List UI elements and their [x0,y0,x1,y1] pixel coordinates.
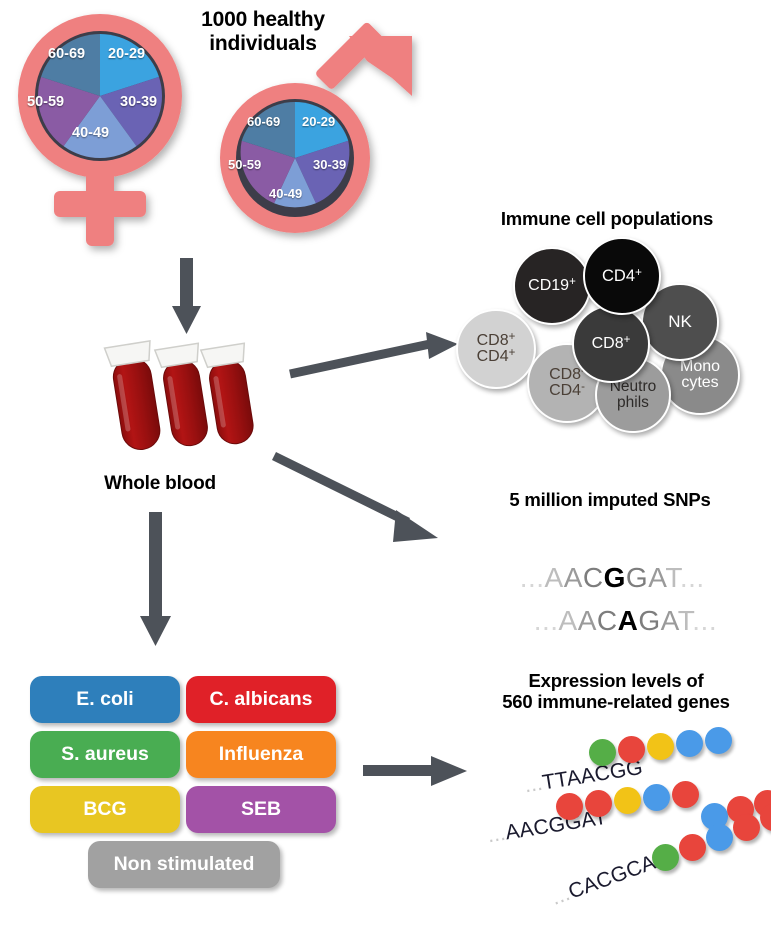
gene-bead [676,730,703,757]
stimulus-label: SEB [241,798,281,821]
arrow-blood-to-immune [288,330,463,380]
stimulus-s-aureus[interactable]: S. aureus [30,731,180,778]
arrow-blood-to-stimuli [125,512,185,652]
figure-canvas: 1000 healthyindividuals [0,0,771,922]
stimulus-label: BCG [83,798,126,821]
stimulus-label: Non stimulated [114,853,255,876]
gene-strand-1: ...TTAACGG [477,748,757,788]
immune-cell-cd8p: CD8+ [572,305,650,383]
gene-bead [733,814,760,841]
arrow-blood-to-snps [272,450,457,550]
gene-bead [672,781,699,808]
male-symbol: 20-29 30-39 40-49 50-59 60-69 [203,30,418,250]
gene-bead [618,736,645,763]
female-symbol: 20-29 30-39 40-49 50-59 60-69 [10,8,190,253]
immune-cell-cd4p: CD4+ [583,237,661,315]
stimulus-influenza[interactable]: Influenza [186,731,336,778]
gene-bead [643,784,670,811]
gene-bead [652,844,679,871]
stimulus-e-coli[interactable]: E. coli [30,676,180,723]
arrow-cohort-to-blood [160,258,220,338]
immune-cell-cd8p-cd4p: CD8+CD4+ [456,309,536,389]
snp-sequence-block: ...AACGGAT... ...AACAGAT... [470,530,760,620]
gene-bead [556,793,583,820]
gene-strand-3: ...CACGCAA [507,880,771,920]
gene-bead [589,739,616,766]
gene-strands-graphic: ...TTAACGG ...AACGGAT ...CACGCAA [455,720,771,920]
gene-bead [706,824,733,851]
immune-cell-group: CD8+CD4+ CD19+ CD4+ NK CD8+ CD8-CD4- Neu… [455,235,760,415]
stimulus-seb[interactable]: SEB [186,786,336,833]
immune-cell-cd19p: CD19+ [513,247,591,325]
gene-expression-title: Expression levels of560 immune-related g… [470,670,762,713]
gene-bead [647,733,674,760]
snps-title: 5 million imputed SNPs [460,489,760,510]
stimuli-grid: E. coli C. albicans S. aureus Influenza … [30,676,350,896]
gene-bead [679,834,706,861]
blood-tubes [95,330,265,470]
gene-bead [705,727,732,754]
female-symbol-glyph [10,8,190,253]
stimulus-c-albicans[interactable]: C. albicans [186,676,336,723]
blood-tube-3 [201,343,260,447]
gene-bead [614,787,641,814]
female-age-pie [38,34,162,158]
stimulus-non-stimulated[interactable]: Non stimulated [88,841,280,888]
snp-sequence-row-2: ...AACAGAT... [484,573,717,669]
male-symbol-glyph [203,30,418,250]
stimulus-bcg[interactable]: BCG [30,786,180,833]
snp-allele-2: A [618,605,639,636]
stimulus-label: E. coli [76,688,133,711]
stimulus-label: S. aureus [61,743,149,766]
whole-blood-label: Whole blood [60,473,260,495]
stimulus-label: Influenza [219,743,304,766]
stimulus-label: C. albicans [210,688,313,711]
immune-cell-populations-title: Immune cell populations [452,208,762,229]
gene-bead [585,790,612,817]
